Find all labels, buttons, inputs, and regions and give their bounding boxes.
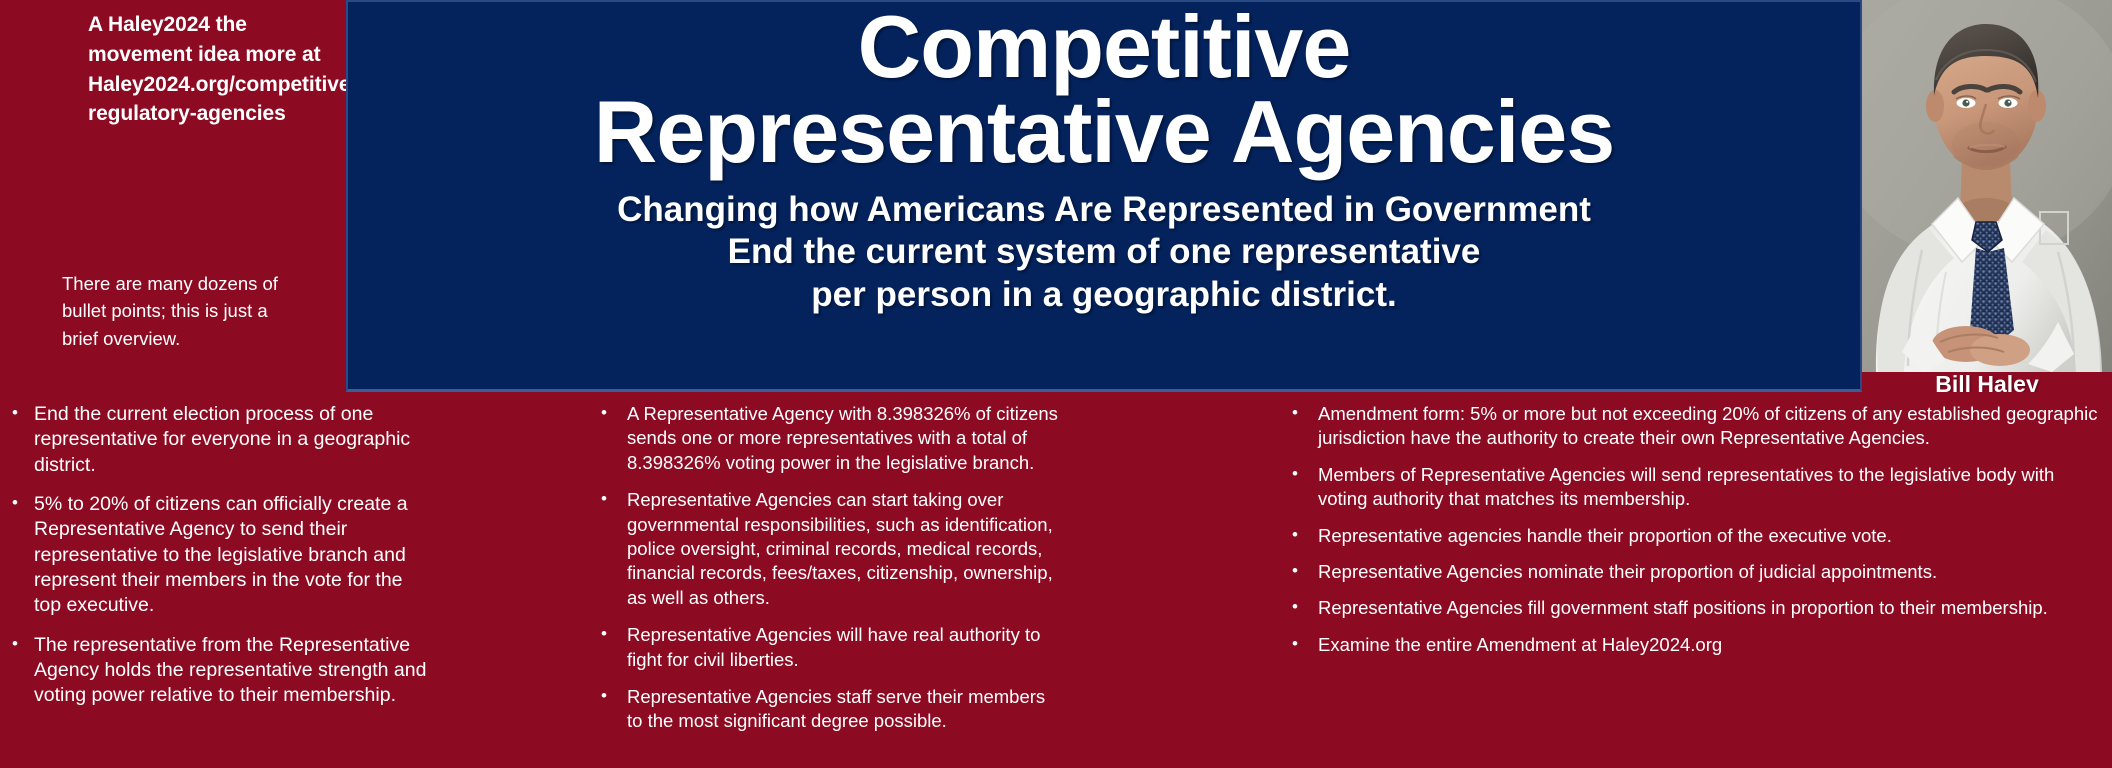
bullet-dot-icon: • [601, 623, 607, 645]
list-item: •End the current election process of one… [4, 402, 428, 478]
list-item-text: A Representative Agency with 8.398326% o… [627, 403, 1058, 473]
list-item-text: End the current election process of one … [34, 403, 410, 476]
list-item-text: Members of Representative Agencies will … [1318, 464, 2054, 509]
bullet-dot-icon: • [1292, 524, 1298, 546]
list-item-text: Representative Agencies nominate their p… [1318, 561, 1937, 582]
portrait-photo-image [1862, 0, 2112, 372]
bullet-dot-icon: • [1292, 633, 1298, 655]
list-item: •Representative Agencies fill government… [1286, 596, 2098, 620]
bullet-column-3: •Amendment form: 5% or more but not exce… [1286, 392, 2098, 669]
list-item-text: The representative from the Representati… [34, 634, 426, 707]
bullet-list-3: •Amendment form: 5% or more but not exce… [1286, 402, 2098, 657]
bullet-list-1: •End the current election process of one… [4, 402, 428, 709]
bullet-dot-icon: • [12, 633, 18, 655]
page-subtitle: Changing how Americans Are Represented i… [348, 189, 1860, 317]
list-item-text: Representative Agencies fill government … [1318, 597, 2048, 618]
sidebar-heading: A Haley2024 the movement idea more at Ha… [88, 10, 336, 129]
bullet-column-2: •A Representative Agency with 8.398326% … [595, 392, 1065, 747]
page-subtitle-line-1: Changing how Americans Are Represented i… [368, 189, 1840, 232]
bullet-dot-icon: • [601, 685, 607, 707]
list-item-text: 5% to 20% of citizens can officially cre… [34, 493, 408, 616]
photo-panel: Bill Haley [1862, 0, 2112, 392]
bullet-column-1: •End the current election process of one… [4, 392, 428, 723]
list-item: •The representative from the Representat… [4, 633, 428, 709]
list-item: •Examine the entire Amendment at Haley20… [1286, 633, 2098, 657]
bullet-dot-icon: • [1292, 402, 1298, 424]
list-item: •Representative Agencies can start takin… [595, 488, 1065, 610]
list-item: •5% to 20% of citizens can officially cr… [4, 492, 428, 619]
list-item-text: Representative Agencies staff serve thei… [627, 686, 1045, 731]
page-subtitle-line-3: per person in a geographic district. [368, 274, 1840, 317]
bullet-dot-icon: • [601, 402, 607, 424]
page-title-line-2: Representative Agencies [358, 89, 1850, 174]
list-item-text: Representative Agencies will have real a… [627, 624, 1040, 669]
list-item-text: Representative agencies handle their pro… [1318, 525, 1892, 546]
bullet-columns: •End the current election process of one… [0, 392, 2112, 768]
portrait-photo [1862, 0, 2112, 372]
bullet-dot-icon: • [12, 402, 18, 424]
page-title: Competitive Representative Agencies [348, 4, 1860, 175]
list-item: •A Representative Agency with 8.398326% … [595, 402, 1065, 475]
list-item-text: Representative Agencies can start taking… [627, 489, 1053, 608]
list-item-text: Examine the entire Amendment at Haley202… [1318, 634, 1722, 655]
bullet-dot-icon: • [12, 492, 18, 514]
list-item: •Representative agencies handle their pr… [1286, 524, 2098, 548]
bullet-dot-icon: • [601, 488, 607, 510]
list-item: •Representative Agencies nominate their … [1286, 560, 2098, 584]
bullet-dot-icon: • [1292, 596, 1298, 618]
list-item-text: Amendment form: 5% or more but not excee… [1318, 403, 2098, 448]
list-item: •Representative Agencies will have real … [595, 623, 1065, 672]
page-subtitle-line-2: End the current system of one representa… [368, 231, 1840, 274]
list-item: •Representative Agencies staff serve the… [595, 685, 1065, 734]
sidebar-panel: A Haley2024 the movement idea more at Ha… [0, 0, 348, 392]
bullet-dot-icon: • [1292, 463, 1298, 485]
photo-caption: Bill Haley [1862, 372, 2112, 392]
list-item: •Members of Representative Agencies will… [1286, 463, 2098, 512]
title-banner: Competitive Representative Agencies Chan… [346, 0, 1862, 392]
page-title-line-1: Competitive [358, 4, 1850, 89]
list-item: •Amendment form: 5% or more but not exce… [1286, 402, 2098, 451]
sidebar-note: There are many dozens of bullet points; … [62, 270, 292, 352]
bullet-dot-icon: • [1292, 560, 1298, 582]
poster-root: A Haley2024 the movement idea more at Ha… [0, 0, 2112, 768]
bullet-list-2: •A Representative Agency with 8.398326% … [595, 402, 1065, 734]
